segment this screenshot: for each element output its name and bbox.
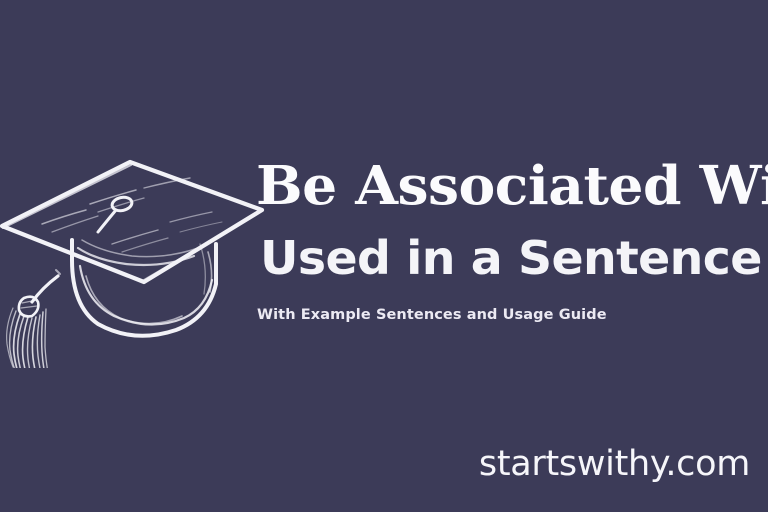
headline-line-2: Used in a Sentence xyxy=(260,235,768,281)
thumbnail-canvas: Be Associated With Used in a Sentence Wi… xyxy=(0,0,768,512)
headline-subtitle: With Example Sentences and Usage Guide xyxy=(257,307,756,323)
site-domain-label: startswithy.com xyxy=(0,444,750,484)
headline-line-1: Be Associated With xyxy=(256,160,768,213)
headline-block: Be Associated With Used in a Sentence Wi… xyxy=(256,160,756,323)
graduation-cap-icon xyxy=(0,148,274,368)
